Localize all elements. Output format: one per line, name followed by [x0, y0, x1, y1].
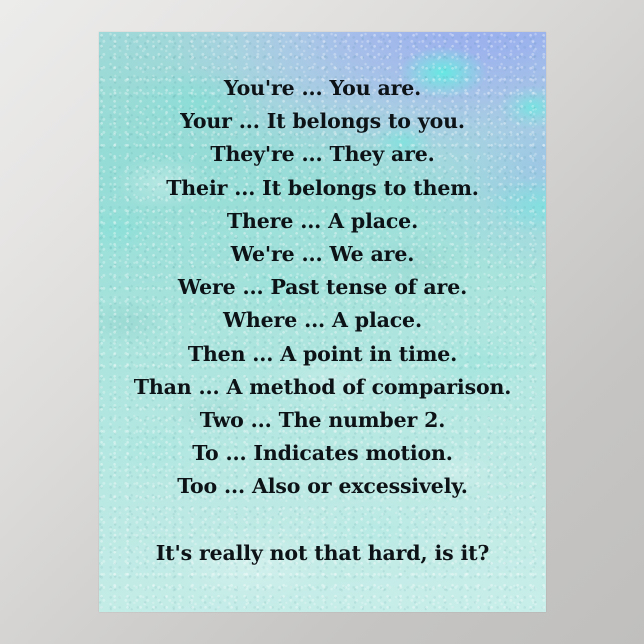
grammar-line-to: To ... Indicates motion. — [99, 437, 546, 470]
poster-backdrop: You're ... You are. Your ... It belongs … — [0, 0, 644, 644]
grammar-closing-line: It's really not that hard, is it? — [99, 537, 546, 570]
grammar-line-their: Their ... It belongs to them. — [99, 172, 546, 205]
text-block-spacer — [99, 504, 546, 537]
grammar-line-were-contraction: We're ... We are. — [99, 238, 546, 271]
grammar-line-youre: You're ... You are. — [99, 72, 546, 105]
poster-image: You're ... You are. Your ... It belongs … — [99, 32, 546, 612]
grammar-line-than: Than ... A method of comparison. — [99, 371, 546, 404]
grammar-line-where: Where ... A place. — [99, 304, 546, 337]
grammar-line-two: Two ... The number 2. — [99, 404, 546, 437]
grammar-line-then: Then ... A point in time. — [99, 338, 546, 371]
grammar-line-theyre: They're ... They are. — [99, 138, 546, 171]
grammar-line-were: Were ... Past tense of are. — [99, 271, 546, 304]
grammar-text-block: You're ... You are. Your ... It belongs … — [99, 72, 546, 570]
grammar-line-too: Too ... Also or excessively. — [99, 470, 546, 503]
grammar-line-there: There ... A place. — [99, 205, 546, 238]
grammar-line-your: Your ... It belongs to you. — [99, 105, 546, 138]
